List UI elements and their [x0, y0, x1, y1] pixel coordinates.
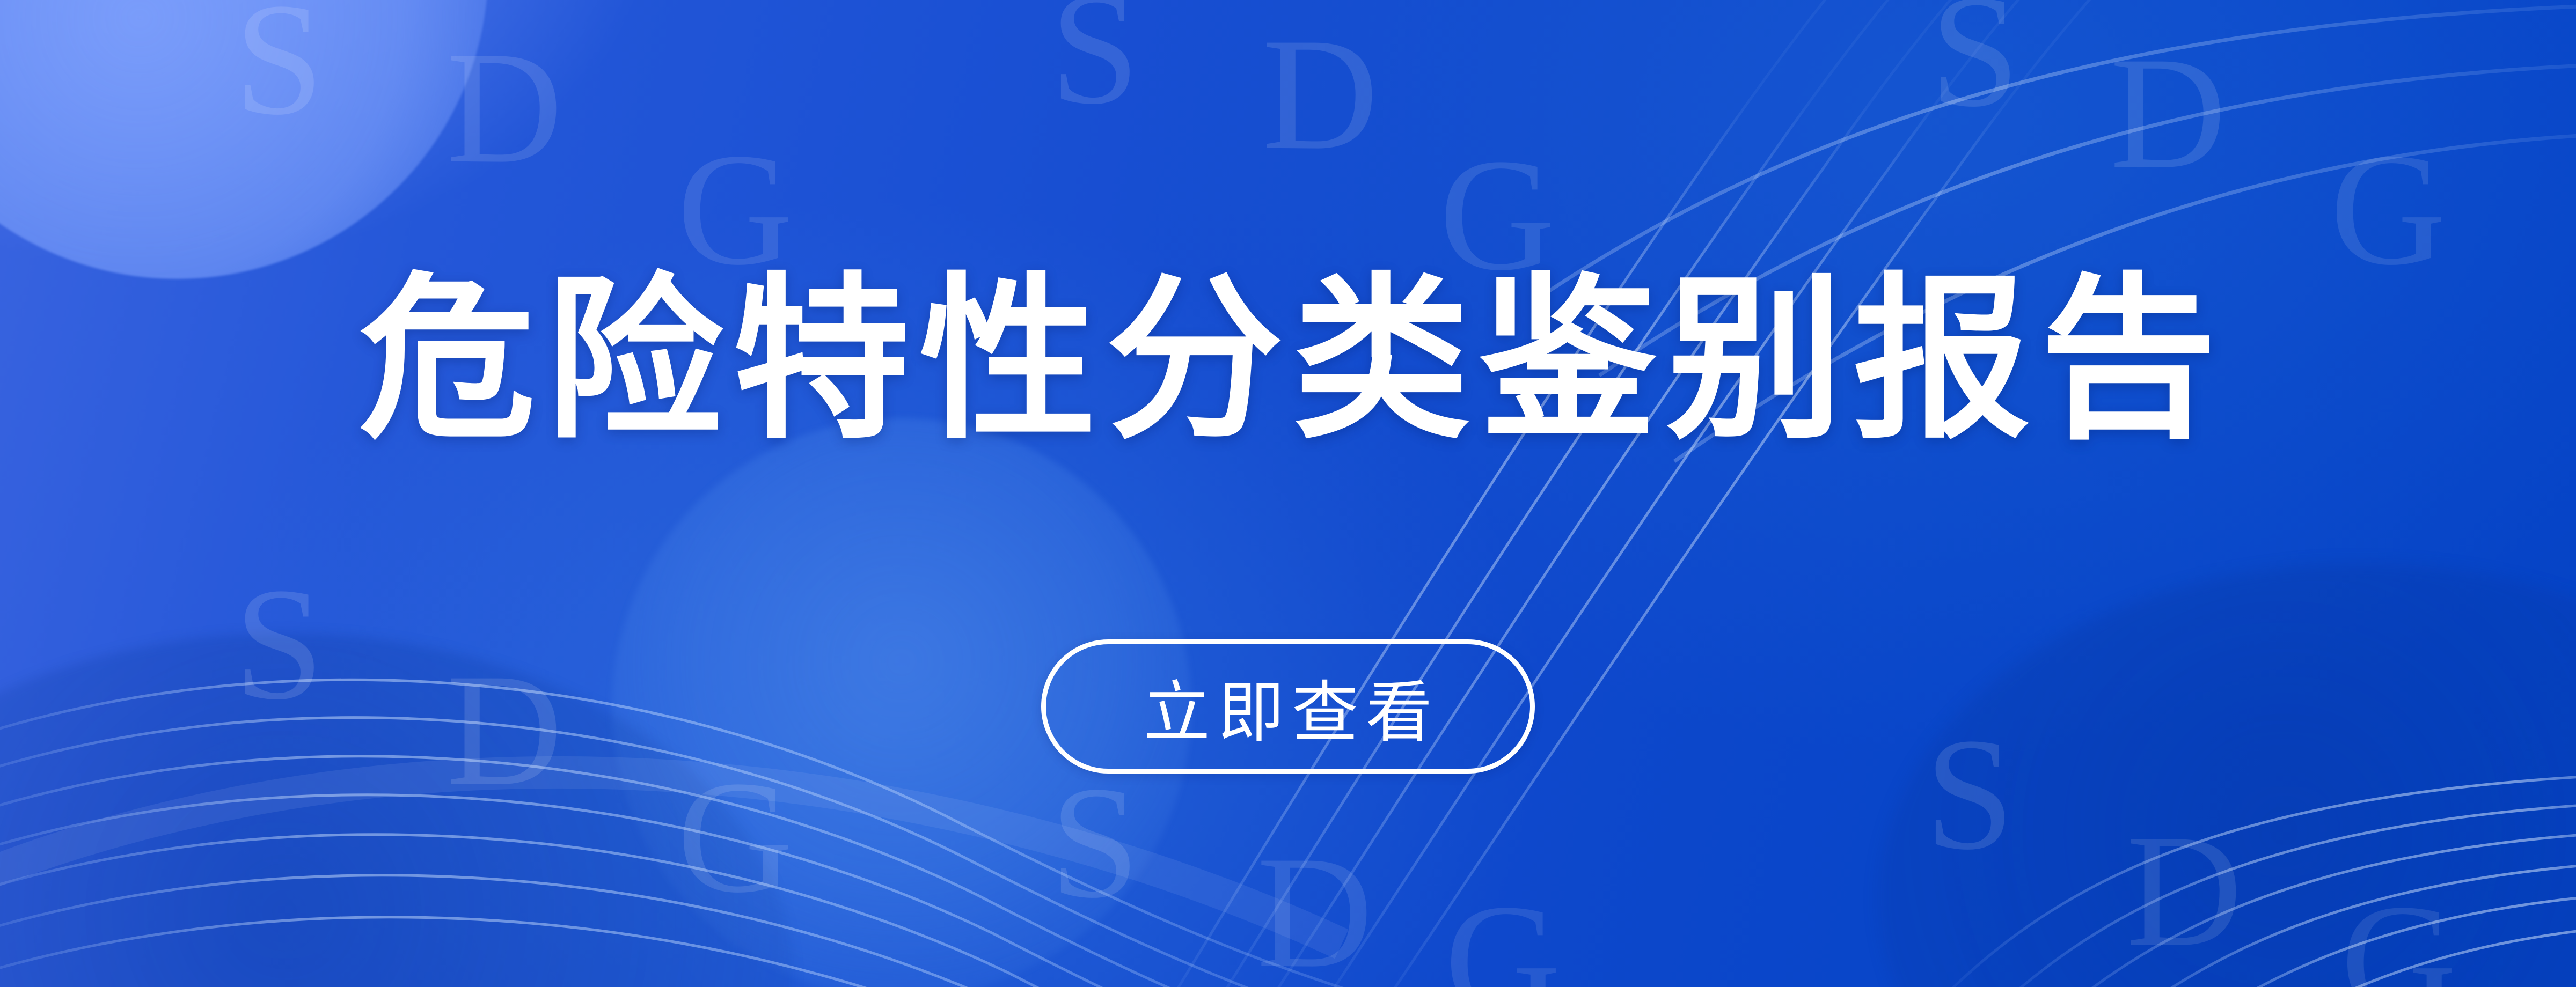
view-now-button[interactable]: 立即查看	[1041, 639, 1535, 774]
banner-content: 危险特性分类鉴别报告 立即查看	[0, 0, 2576, 987]
page-title: 危险特性分类鉴别报告	[349, 267, 2227, 453]
promo-banner: SDGSDGSDGSDGSDGSDG 危险特性分类鉴别报告 立即查看	[0, 0, 2576, 987]
